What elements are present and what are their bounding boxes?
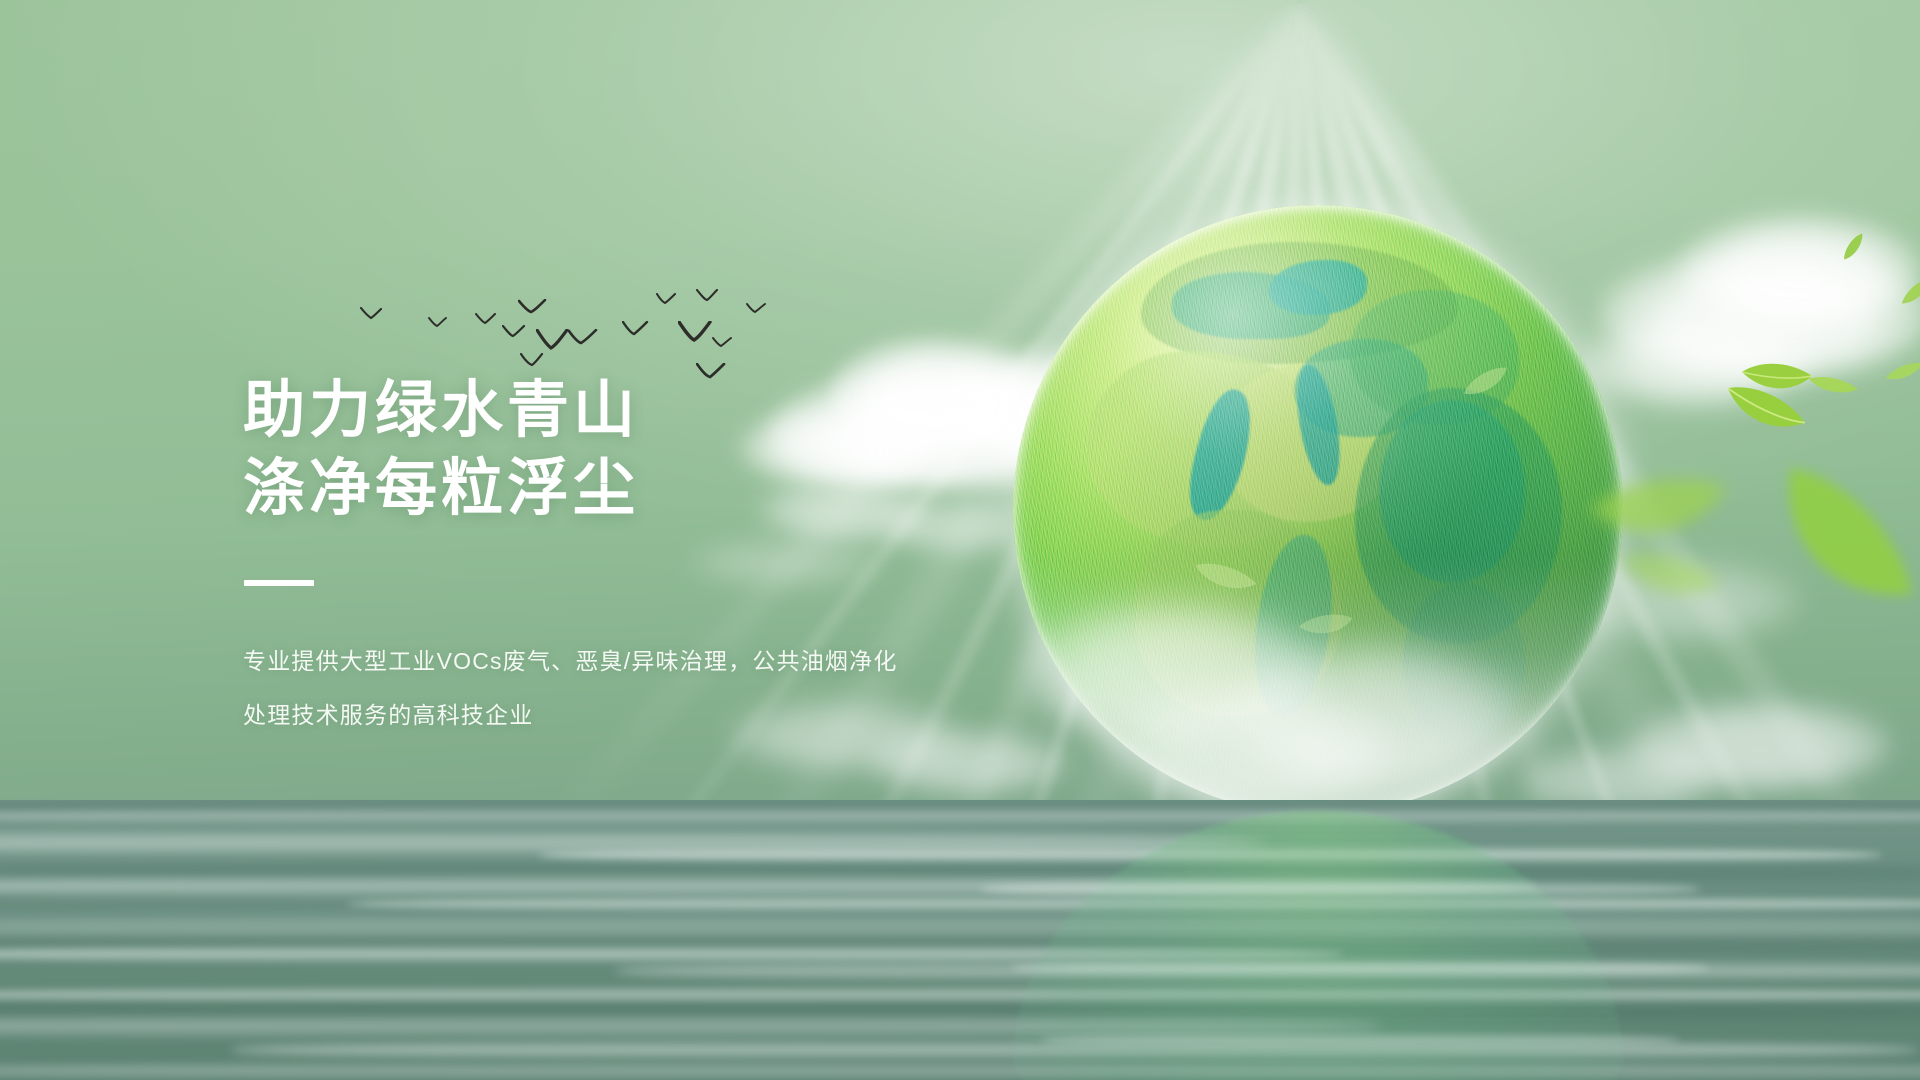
- cloud-icon: [1580, 320, 1810, 405]
- bird-icon: [696, 289, 720, 303]
- leaf-icon: [1610, 539, 1728, 613]
- bird-icon: [656, 293, 678, 306]
- bird-icon: [502, 325, 528, 339]
- cloud-icon: [950, 350, 1140, 460]
- headline-line-2: 涤净每粒浮尘: [243, 450, 943, 528]
- leaf-icon: [1455, 356, 1517, 408]
- cloud-icon: [1680, 215, 1920, 325]
- bird-icon: [622, 321, 650, 337]
- leaf-icon: [1836, 227, 1871, 267]
- bird-icon: [712, 337, 734, 349]
- headline-line-1: 助力绿水青山: [243, 372, 943, 450]
- cloud-icon: [1630, 700, 1890, 790]
- earth-globe: [1013, 205, 1623, 815]
- bird-icon: [518, 299, 548, 315]
- water-ripple: [1040, 1032, 1680, 1048]
- leaf-icon: [1894, 271, 1920, 313]
- cloud-icon: [1560, 560, 1800, 640]
- leaf-icon: [1738, 358, 1816, 402]
- leaf-icon: [1294, 606, 1358, 644]
- title-divider: [244, 580, 314, 586]
- cloud-icon: [1600, 250, 1920, 380]
- hero-paragraph: 专业提供大型工业VOCs废气、恶臭/异味治理，公共油烟净化处理技术服务的高科技企…: [243, 634, 903, 742]
- leaf-icon: [1804, 369, 1862, 404]
- leaf-icon: [1712, 372, 1816, 452]
- bird-icon: [536, 329, 570, 351]
- bird-icon: [475, 313, 499, 326]
- hero-copy: 助力绿水青山 涤净每粒浮尘 专业提供大型工业VOCs废气、恶臭/异味治理，公共油…: [243, 372, 943, 742]
- hero-banner: 助力绿水青山 涤净每粒浮尘 专业提供大型工业VOCs废气、恶臭/异味治理，公共油…: [0, 0, 1920, 1080]
- cloud-icon: [1230, 640, 1520, 790]
- bird-icon: [520, 353, 546, 368]
- leaf-icon: [1186, 550, 1263, 604]
- water-ripple: [1010, 960, 1710, 976]
- water-ripple: [980, 880, 1700, 898]
- bird-icon: [678, 321, 712, 343]
- bird-icon: [360, 307, 386, 321]
- bird-icon: [428, 317, 450, 329]
- cloud-icon: [1020, 600, 1320, 740]
- bird-icon: [746, 303, 768, 315]
- bird-icon: [568, 329, 598, 346]
- leaf-icon: [1732, 442, 1920, 648]
- cloud-icon: [1110, 690, 1390, 810]
- leaf-icon: [1881, 355, 1920, 389]
- leaf-icon: [1579, 453, 1743, 565]
